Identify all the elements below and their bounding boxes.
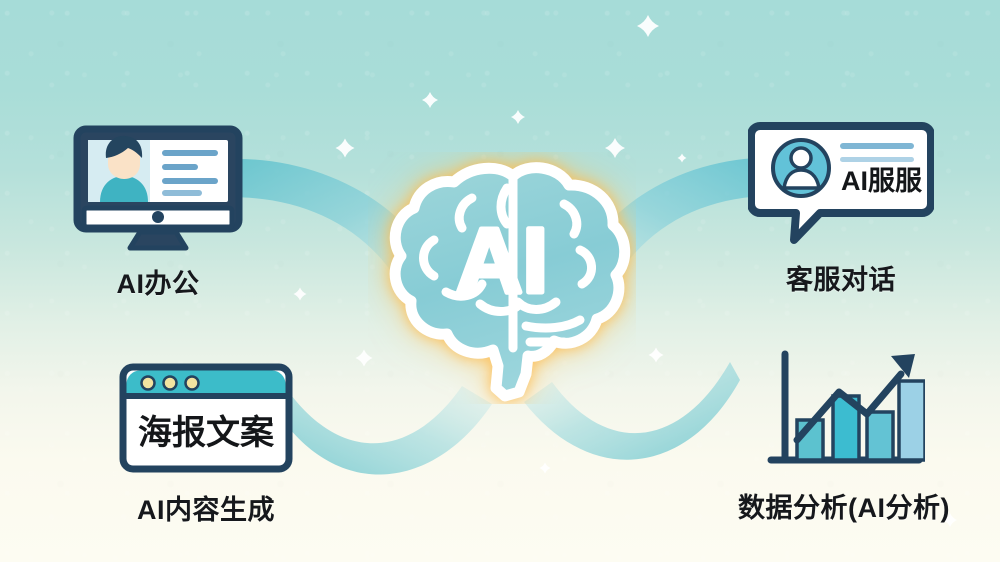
- speech-bubble-icon: AI服服: [748, 118, 934, 246]
- user-circle-icon: [773, 140, 829, 196]
- node-label-ai-office: AI办公: [117, 262, 200, 301]
- node-label-customer-service: 客服对话: [786, 258, 896, 297]
- sparkle-icon-5: [678, 154, 687, 163]
- sparkle-icon-8: [649, 348, 664, 363]
- node-customer-service[interactable]: AI服服 客服对话: [748, 118, 934, 297]
- sparkle-icon-1: [422, 92, 438, 108]
- brain-icon: AI: [368, 152, 636, 404]
- bubble-text: AI服服: [841, 166, 923, 196]
- node-label-data-analysis: 数据分析(AI分析): [738, 486, 950, 525]
- bar-chart-growth-icon: [763, 348, 925, 474]
- desktop-monitor-icon: [72, 124, 244, 254]
- sparkle-icon-6: [294, 288, 307, 301]
- window-dots: [142, 377, 199, 390]
- window-text: 海报文案: [138, 414, 275, 452]
- scene-canvas: AI AI办公: [0, 0, 1000, 562]
- sparkle-icon-2: [511, 110, 525, 124]
- browser-window-icon: 海报文案: [118, 362, 294, 474]
- monitor-stand: [130, 232, 186, 248]
- sparkle-icon-0: [637, 15, 659, 37]
- node-label-content-generation: AI内容生成: [137, 488, 275, 527]
- node-content-generation[interactable]: 海报文案 AI内容生成: [118, 362, 294, 527]
- brain-label: AI: [456, 210, 548, 312]
- sparkle-icon-3: [336, 139, 355, 158]
- node-ai-office[interactable]: AI办公: [72, 124, 244, 301]
- sparkle-icon-9: [540, 463, 551, 474]
- node-data-analysis[interactable]: 数据分析(AI分析): [738, 348, 950, 525]
